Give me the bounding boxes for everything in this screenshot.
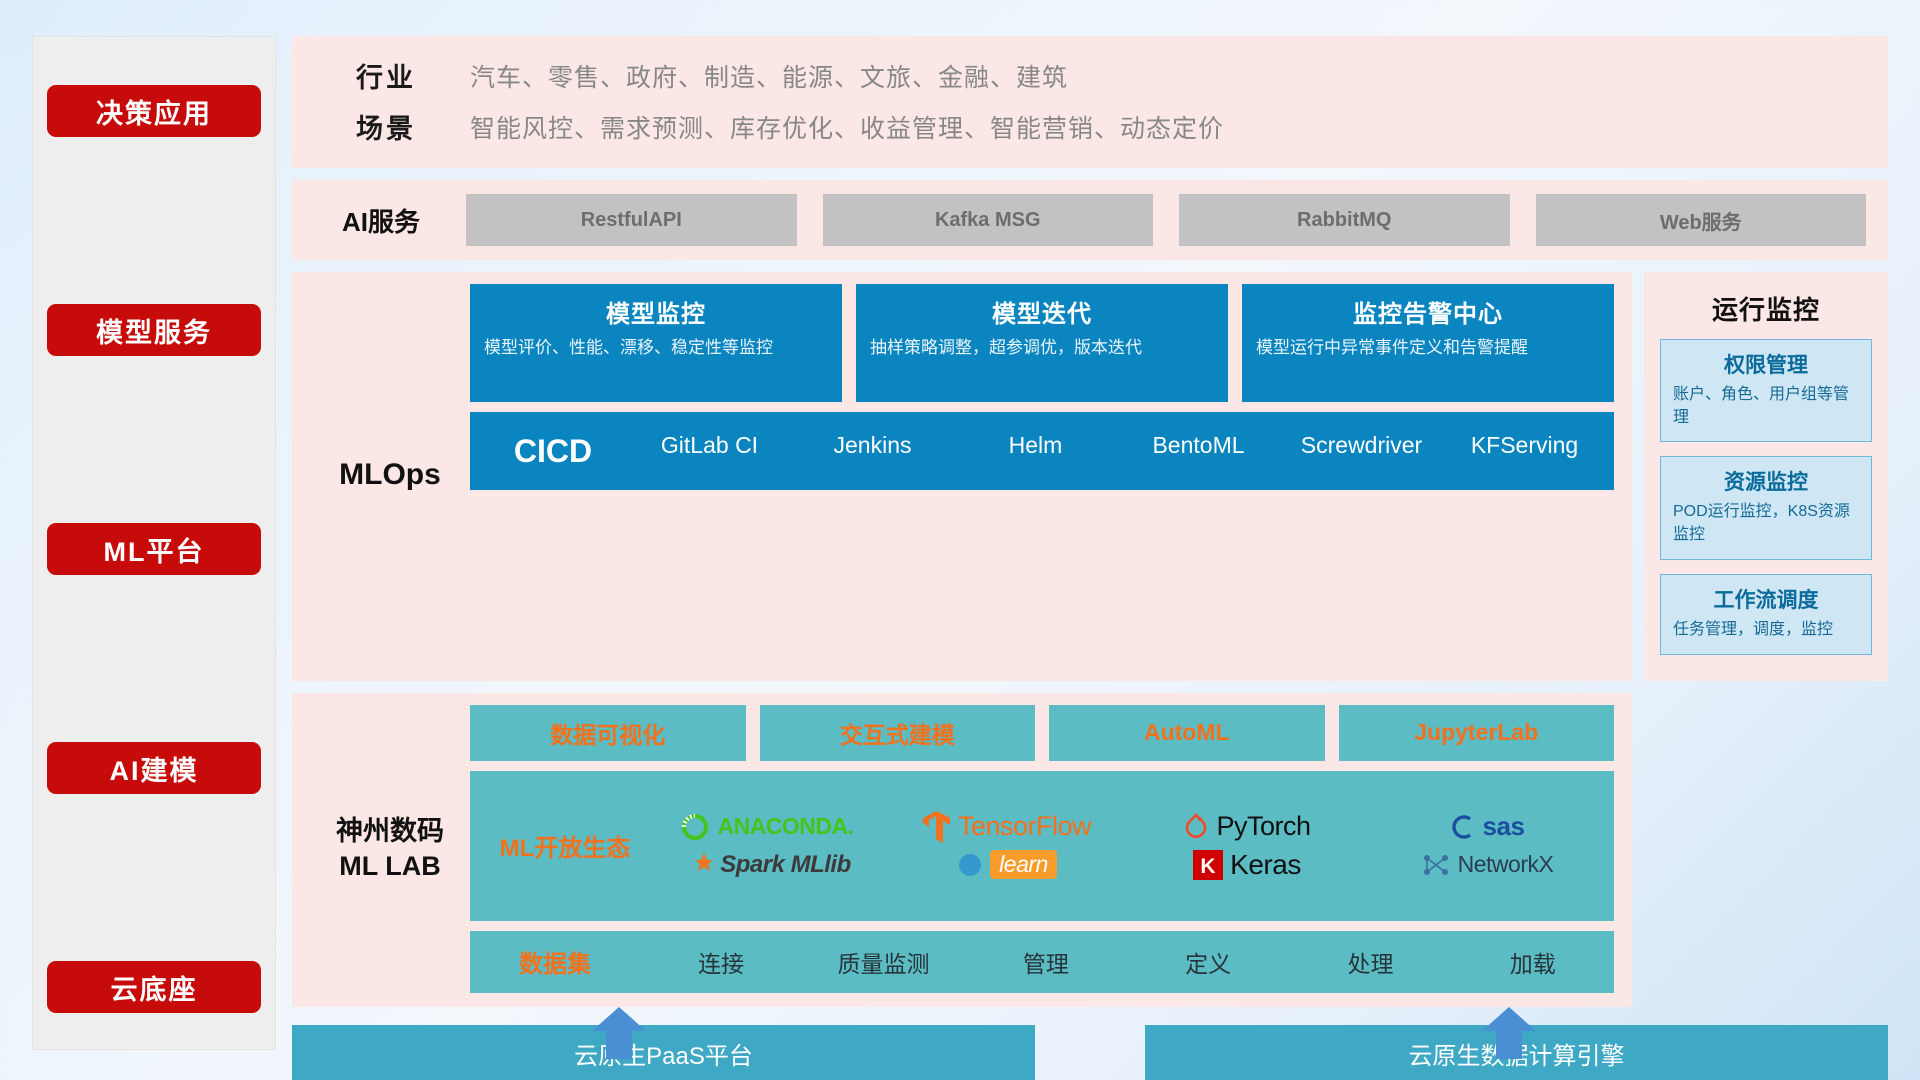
run-monitor-card-permission[interactable]: 权限管理 账户、角色、用户组等管理: [1660, 339, 1872, 442]
pytorch-icon: [1183, 812, 1209, 842]
mlops-card-model-iteration[interactable]: 模型迭代 抽样策略调整，超参调优，版本迭代: [856, 284, 1228, 402]
mlops-card-alert-center[interactable]: 监控告警中心 模型运行中异常事件定义和告警提醒: [1242, 284, 1614, 402]
ml-ecosystem-label: ML开放生态: [480, 828, 650, 863]
ml-ecosystem-logos: ANACONDA. TensorFlow: [650, 810, 1604, 882]
keras-icon: K: [1193, 850, 1223, 880]
logo-label: TensorFlow: [958, 811, 1091, 842]
rail-item-model-service[interactable]: 模型服务: [47, 304, 261, 356]
card-title: 监控告警中心: [1256, 294, 1600, 329]
arrow-up-paas: [592, 1007, 646, 1059]
card-title: 模型迭代: [870, 294, 1214, 329]
card-desc: 账户、角色、用户组等管理: [1673, 384, 1859, 429]
dataset-item-connect[interactable]: 连接: [640, 945, 802, 979]
logo-label: Spark MLlib: [720, 851, 851, 879]
logo-spark-mllib[interactable]: Spark MLlib: [683, 851, 851, 879]
paas-title: 云原生PaaS平台: [292, 1025, 1035, 1080]
ai-service-kafka-msg[interactable]: Kafka MSG: [823, 194, 1154, 246]
scene-value: 智能风控、需求预测、库存优化、收益管理、智能营销、动态定价: [470, 109, 1224, 145]
tool-data-visualization[interactable]: 数据可视化: [470, 705, 746, 761]
logo-tensorflow[interactable]: TensorFlow: [923, 810, 1091, 844]
industry-line: 行业 汽车、零售、政府、制造、能源、文旅、金融、建筑: [318, 56, 1862, 95]
ml-ecosystem: ML开放生态 ANACONDA.: [470, 771, 1614, 921]
card-desc: 模型评价、性能、漂移、稳定性等监控: [484, 336, 828, 361]
layer-rail: 决策应用 模型服务 ML平台 AI建模 云底座: [32, 36, 276, 1050]
cicd-bar: CICD GitLab CI Jenkins Helm BentoML Scre…: [470, 412, 1614, 490]
logo-sas[interactable]: sas: [1450, 811, 1525, 842]
logo-label: ANACONDA.: [717, 813, 853, 840]
mlops-card-model-monitor[interactable]: 模型监控 模型评价、性能、漂移、稳定性等监控: [470, 284, 842, 402]
mlops-label: MLOps: [310, 284, 470, 667]
mlops-cards: 模型监控 模型评价、性能、漂移、稳定性等监控 模型迭代 抽样策略调整，超参调优，…: [470, 284, 1614, 402]
cicd-item-kfserving[interactable]: KFServing: [1443, 434, 1606, 468]
mlops-panel: MLOps 模型监控 模型评价、性能、漂移、稳定性等监控 模型迭代 抽样策略调整…: [292, 272, 1632, 681]
cicd-item-jenkins[interactable]: Jenkins: [791, 434, 954, 468]
svg-text:K: K: [1201, 855, 1216, 878]
decision-layer: 行业 汽车、零售、政府、制造、能源、文旅、金融、建筑 场景 智能风控、需求预测、…: [292, 36, 1888, 168]
mllab-tools: 数据可视化 交互式建模 AutoML JupyterLab: [470, 705, 1614, 761]
cicd-item-helm[interactable]: Helm: [954, 434, 1117, 468]
sas-icon: [1450, 814, 1476, 840]
logo-label: learn: [990, 850, 1057, 879]
card-desc: 任务管理，调度，监控: [1673, 619, 1859, 642]
rail-item-decision[interactable]: 决策应用: [47, 85, 261, 137]
logo-pytorch[interactable]: PyTorch: [1183, 811, 1310, 842]
logo-networkx[interactable]: NetworkX: [1421, 851, 1554, 878]
tool-interactive-modeling[interactable]: 交互式建模: [760, 705, 1036, 761]
mllab-label-line2: ML LAB: [339, 851, 441, 881]
main-stack: 行业 汽车、零售、政府、制造、能源、文旅、金融、建筑 场景 智能风控、需求预测、…: [292, 36, 1888, 1050]
paas-column: 云原生PaaS平台 Nginx Kong Istio RocketMQ GRPC…: [292, 1025, 1035, 1080]
dataset-label: 数据集: [470, 944, 640, 979]
anaconda-icon: [680, 812, 710, 842]
ai-service-restfulapi[interactable]: RestfulAPI: [466, 194, 797, 246]
tensorflow-icon: [923, 810, 951, 844]
card-title: 资源监控: [1673, 466, 1859, 496]
run-monitor-panel: 运行监控 权限管理 账户、角色、用户组等管理 资源监控 POD运行监控，K8S资…: [1644, 272, 1888, 681]
dataset-item-process[interactable]: 处理: [1289, 945, 1451, 979]
tool-jupyterlab[interactable]: JupyterLab: [1339, 705, 1615, 761]
run-monitor-card-workflow[interactable]: 工作流调度 任务管理，调度，监控: [1660, 574, 1872, 655]
mllab-label: 神州数码 ML LAB: [310, 705, 470, 993]
cloud-base-layer: 云原生PaaS平台 Nginx Kong Istio RocketMQ GRPC…: [292, 1019, 1888, 1080]
dataset-items: 连接 质量监测 管理 定义 处理 加载: [640, 945, 1614, 979]
mllab-label-line1: 神州数码: [336, 816, 444, 846]
card-desc: 模型运行中异常事件定义和告警提醒: [1256, 336, 1600, 361]
dataset-row: 数据集 连接 质量监测 管理 定义 处理 加载: [470, 931, 1614, 993]
rail-item-cloud-base[interactable]: 云底座: [47, 961, 261, 1013]
logo-label: sas: [1483, 811, 1525, 842]
dataset-item-load[interactable]: 加载: [1452, 945, 1614, 979]
spacer-right: [1644, 693, 1888, 1007]
dataset-item-manage[interactable]: 管理: [965, 945, 1127, 979]
logo-keras[interactable]: K Keras: [1193, 849, 1301, 881]
industry-label: 行业: [318, 56, 470, 95]
run-monitor-card-resource[interactable]: 资源监控 POD运行监控，K8S资源监控: [1660, 456, 1872, 559]
cicd-item-bentoml[interactable]: BentoML: [1117, 434, 1280, 468]
mllab-panel: 神州数码 ML LAB 数据可视化 交互式建模 AutoML JupyterLa…: [292, 693, 1632, 1007]
cicd-item-screwdriver[interactable]: Screwdriver: [1280, 434, 1443, 468]
dataset-item-define[interactable]: 定义: [1127, 945, 1289, 979]
ml-platform-layer: MLOps 模型监控 模型评价、性能、漂移、稳定性等监控 模型迭代 抽样策略调整…: [292, 272, 1888, 681]
architecture-diagram: 决策应用 模型服务 ML平台 AI建模 云底座 行业 汽车、零售、政府、制造、能…: [0, 0, 1920, 1080]
mlops-body: 模型监控 模型评价、性能、漂移、稳定性等监控 模型迭代 抽样策略调整，超参调优，…: [470, 284, 1614, 667]
card-desc: POD运行监控，K8S资源监控: [1673, 501, 1859, 546]
ai-modeling-layer: 神州数码 ML LAB 数据可视化 交互式建模 AutoML JupyterLa…: [292, 693, 1888, 1007]
cicd-item-gitlab-ci[interactable]: GitLab CI: [628, 434, 791, 468]
ai-service-label: AI服务: [314, 202, 466, 239]
logo-label: NetworkX: [1458, 851, 1554, 878]
logo-label: PyTorch: [1216, 811, 1310, 842]
card-desc: 抽样策略调整，超参调优，版本迭代: [870, 336, 1214, 361]
tool-automl[interactable]: AutoML: [1049, 705, 1325, 761]
arrow-up-engine: [1482, 1007, 1536, 1059]
card-title: 权限管理: [1673, 349, 1859, 379]
spark-icon: [683, 852, 713, 878]
card-title: 模型监控: [484, 294, 828, 329]
networkx-icon: [1421, 852, 1451, 878]
scene-label: 场景: [318, 107, 470, 146]
scikit-learn-icon: [957, 852, 983, 878]
logo-label: Keras: [1230, 849, 1301, 881]
rail-item-ml-platform[interactable]: ML平台: [47, 523, 261, 575]
logo-scikit-learn[interactable]: learn: [957, 850, 1057, 879]
ai-service-items: RestfulAPI Kafka MSG RabbitMQ Web服务: [466, 194, 1866, 246]
ai-service-rabbitmq[interactable]: RabbitMQ: [1179, 194, 1510, 246]
run-monitor-title: 运行监控: [1660, 290, 1872, 327]
ai-service-web[interactable]: Web服务: [1536, 194, 1867, 246]
scene-line: 场景 智能风控、需求预测、库存优化、收益管理、智能营销、动态定价: [318, 107, 1862, 146]
ai-service-layer: AI服务 RestfulAPI Kafka MSG RabbitMQ Web服务: [292, 180, 1888, 260]
cicd-label: CICD: [478, 433, 628, 470]
logo-anaconda[interactable]: ANACONDA.: [680, 812, 853, 842]
industry-value: 汽车、零售、政府、制造、能源、文旅、金融、建筑: [470, 58, 1068, 94]
card-title: 工作流调度: [1673, 584, 1859, 614]
cicd-items: GitLab CI Jenkins Helm BentoML Screwdriv…: [628, 434, 1606, 468]
mllab-body: 数据可视化 交互式建模 AutoML JupyterLab ML开放生态: [470, 705, 1614, 993]
rail-item-ai-modeling[interactable]: AI建模: [47, 742, 261, 794]
dataset-item-quality[interactable]: 质量监测: [802, 945, 964, 979]
